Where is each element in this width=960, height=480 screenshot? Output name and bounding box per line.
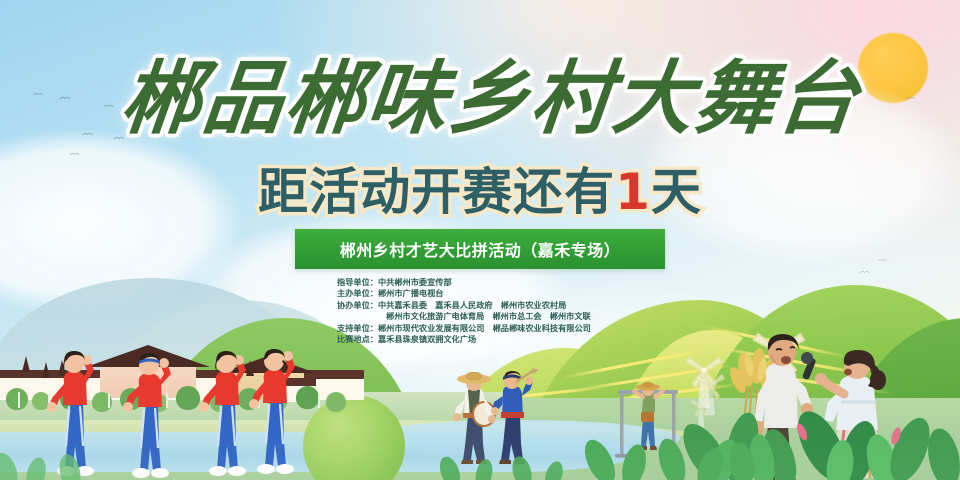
credit-row: 郴州市文化旅游广电体育局 郴州市总工会 郴州市文联: [337, 311, 667, 322]
square-dancing-women-icon: [240, 348, 304, 478]
credit-row: 指导单位：中共郴州市委宣传部: [337, 277, 667, 288]
credit-value: 中共郴州市委宣传部: [378, 277, 667, 288]
credit-value: 郴州市文化旅游广电体育局 郴州市总工会 郴州市文联: [386, 311, 667, 322]
credits-block: 指导单位：中共郴州市委宣传部主办单位：郴州市广播电视台协办单位：中共嘉禾县委 嘉…: [337, 277, 667, 345]
credit-row: 协办单位：中共嘉禾县委 嘉禾县人民政府 郴州市农业农村局: [337, 300, 667, 311]
event-ribbon-label: 郴州乡村才艺大比拼活动（嘉禾专场）: [340, 237, 621, 261]
event-ribbon: 郴州乡村才艺大比拼活动（嘉禾专场）: [295, 229, 665, 269]
bird-icon: [82, 132, 93, 136]
countdown-suffix: 天: [651, 163, 702, 221]
credit-value: 郴州市广播电视台: [378, 288, 667, 299]
bird-icon: [878, 258, 886, 262]
credit-label: 主办单位：: [337, 288, 378, 299]
credit-row: 比赛地点：嘉禾县珠泉镇双拥文化广场: [337, 334, 667, 345]
bird-icon: [34, 92, 43, 96]
bird-icon: [860, 270, 869, 274]
credit-value: 中共嘉禾县委 嘉禾县人民政府 郴州市农业农村局: [378, 300, 667, 311]
poster-canvas: 郴品郴味乡村大舞台 距活动开赛还有1天 郴州乡村才艺大比拼活动（嘉禾专场） 指导…: [0, 0, 960, 480]
bird-icon: [60, 96, 70, 100]
countdown-prefix: 距活动开赛还有: [258, 163, 615, 221]
countdown-number: 1: [615, 163, 651, 221]
page-title: 郴品郴味乡村大舞台: [141, 40, 842, 144]
tropical-leaves-icon: [430, 444, 570, 480]
credit-label: 协办单位：: [337, 300, 378, 311]
bird-icon: [104, 104, 113, 108]
credit-value: 嘉禾县珠泉镇双拥文化广场: [378, 334, 667, 345]
credit-label: 支持单位：: [337, 323, 378, 334]
credit-row: 支持单位：郴州市现代农业发展有限公司 郴品郴味农业科技有限公司: [337, 323, 667, 334]
bird-icon: [906, 96, 915, 100]
tropical-leaves-icon: [0, 436, 108, 480]
countdown-headline: 距活动开赛还有1天: [0, 152, 960, 224]
square-dancing-women-icon: [115, 352, 179, 480]
credit-value: 郴州市现代农业发展有限公司 郴品郴味农业科技有限公司: [378, 323, 667, 334]
credit-label: 比赛地点：: [337, 334, 378, 345]
credit-label: 指导单位：: [337, 277, 378, 288]
tropical-leaves-icon: [576, 424, 756, 480]
credit-row: 主办单位：郴州市广播电视台: [337, 288, 667, 299]
